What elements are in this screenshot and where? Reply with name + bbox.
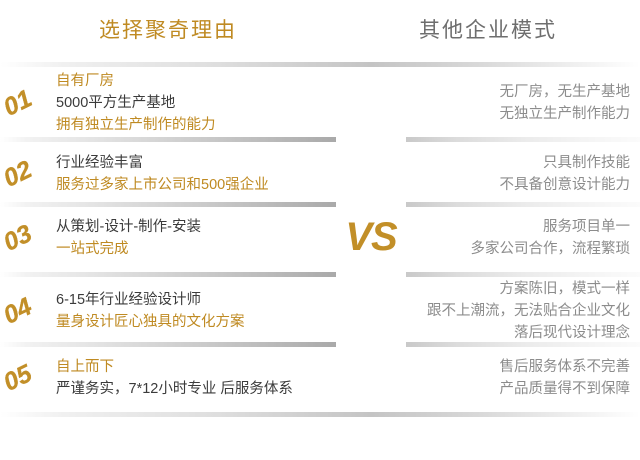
row-number-03: 03 xyxy=(0,219,37,257)
header-title-left: 选择聚奇理由 xyxy=(0,18,336,44)
advantage-line: 5000平方生产基地 xyxy=(56,92,336,114)
drawback-line: 方案陈旧，模式一样 xyxy=(400,278,630,300)
drawback-line: 落后现代设计理念 xyxy=(400,322,630,344)
advantage-line: 量身设计匠心独具的文化方案 xyxy=(56,311,336,333)
drawback-text-block: 售后服务体系不完善产品质量得不到保障 xyxy=(400,356,630,400)
drawback-line: 产品质量得不到保障 xyxy=(400,378,630,400)
row-number-04: 04 xyxy=(0,292,37,330)
advantage-line: 行业经验丰富 xyxy=(56,152,336,174)
header: 选择聚奇理由 其他企业模式 xyxy=(0,0,640,62)
comparison-row: 02行业经验丰富服务过多家上市公司和500强企业只具制作技能不具备创意设计能力 xyxy=(0,148,640,200)
section-divider xyxy=(0,62,640,67)
advantage-line: 一站式完成 xyxy=(56,238,336,260)
row-divider-right xyxy=(406,137,640,142)
row-divider-right xyxy=(406,272,640,277)
advantage-text-block: 从策划-设计-制作-安装一站式完成 xyxy=(56,216,336,260)
drawback-line: 无独立生产制作能力 xyxy=(400,103,630,125)
advantage-text-block: 自有厂房5000平方生产基地拥有独立生产制作的能力 xyxy=(56,70,336,136)
drawback-text-block: 服务项目单一多家公司合作，流程繁琐 xyxy=(400,216,630,260)
comparison-row-inner: 03从策划-设计-制作-安装一站式完成服务项目单一多家公司合作，流程繁琐 xyxy=(0,212,640,264)
advantage-line: 自上而下 xyxy=(56,356,336,378)
advantage-text-block: 行业经验丰富服务过多家上市公司和500强企业 xyxy=(56,152,336,196)
row-divider-left xyxy=(0,272,336,277)
comparison-row: 046-15年行业经验设计师量身设计匠心独具的文化方案方案陈旧，模式一样跟不上潮… xyxy=(0,282,640,340)
drawback-line: 多家公司合作，流程繁琐 xyxy=(400,238,630,260)
advantage-line: 自有厂房 xyxy=(56,70,336,92)
row-divider-left xyxy=(0,137,336,142)
comparison-infographic: 选择聚奇理由 其他企业模式 VS 01自有厂房5000平方生产基地拥有独立生产制… xyxy=(0,0,640,460)
advantage-line: 严谨务实，7*12小时专业 后服务体系 xyxy=(56,378,336,400)
comparison-row-inner: 046-15年行业经验设计师量身设计匠心独具的文化方案方案陈旧，模式一样跟不上潮… xyxy=(0,282,640,340)
advantage-line: 服务过多家上市公司和500强企业 xyxy=(56,174,336,196)
drawback-line: 只具制作技能 xyxy=(400,152,630,174)
advantage-line: 拥有独立生产制作的能力 xyxy=(56,114,336,136)
row-divider-left xyxy=(0,202,336,207)
drawback-line: 不具备创意设计能力 xyxy=(400,174,630,196)
comparison-row: 05自上而下严谨务实，7*12小时专业 后服务体系售后服务体系不完善产品质量得不… xyxy=(0,352,640,404)
row-number-05: 05 xyxy=(0,359,37,397)
drawback-line: 售后服务体系不完善 xyxy=(400,356,630,378)
drawback-text-block: 方案陈旧，模式一样跟不上潮流，无法贴合企业文化落后现代设计理念 xyxy=(400,278,630,344)
comparison-row-inner: 02行业经验丰富服务过多家上市公司和500强企业只具制作技能不具备创意设计能力 xyxy=(0,148,640,200)
row-number-02: 02 xyxy=(0,155,37,193)
drawback-text-block: 无厂房，无生产基地无独立生产制作能力 xyxy=(400,81,630,125)
drawback-line: 无厂房，无生产基地 xyxy=(400,81,630,103)
advantage-line: 6-15年行业经验设计师 xyxy=(56,289,336,311)
comparison-row: 01自有厂房5000平方生产基地拥有独立生产制作的能力无厂房，无生产基地无独立生… xyxy=(0,72,640,134)
comparison-row-inner: 05自上而下严谨务实，7*12小时专业 后服务体系售后服务体系不完善产品质量得不… xyxy=(0,352,640,404)
row-number-01: 01 xyxy=(0,84,37,122)
advantage-line: 从策划-设计-制作-安装 xyxy=(56,216,336,238)
section-divider xyxy=(0,412,640,417)
row-divider-right xyxy=(406,202,640,207)
advantage-text-block: 6-15年行业经验设计师量身设计匠心独具的文化方案 xyxy=(56,289,336,333)
comparison-row-inner: 01自有厂房5000平方生产基地拥有独立生产制作的能力无厂房，无生产基地无独立生… xyxy=(0,72,640,134)
advantage-text-block: 自上而下严谨务实，7*12小时专业 后服务体系 xyxy=(56,356,336,400)
row-divider-left xyxy=(0,342,336,347)
header-title-right: 其他企业模式 xyxy=(336,18,640,44)
drawback-text-block: 只具制作技能不具备创意设计能力 xyxy=(400,152,630,196)
drawback-line: 跟不上潮流，无法贴合企业文化 xyxy=(400,300,630,322)
drawback-line: 服务项目单一 xyxy=(400,216,630,238)
comparison-row: 03从策划-设计-制作-安装一站式完成服务项目单一多家公司合作，流程繁琐 xyxy=(0,212,640,264)
